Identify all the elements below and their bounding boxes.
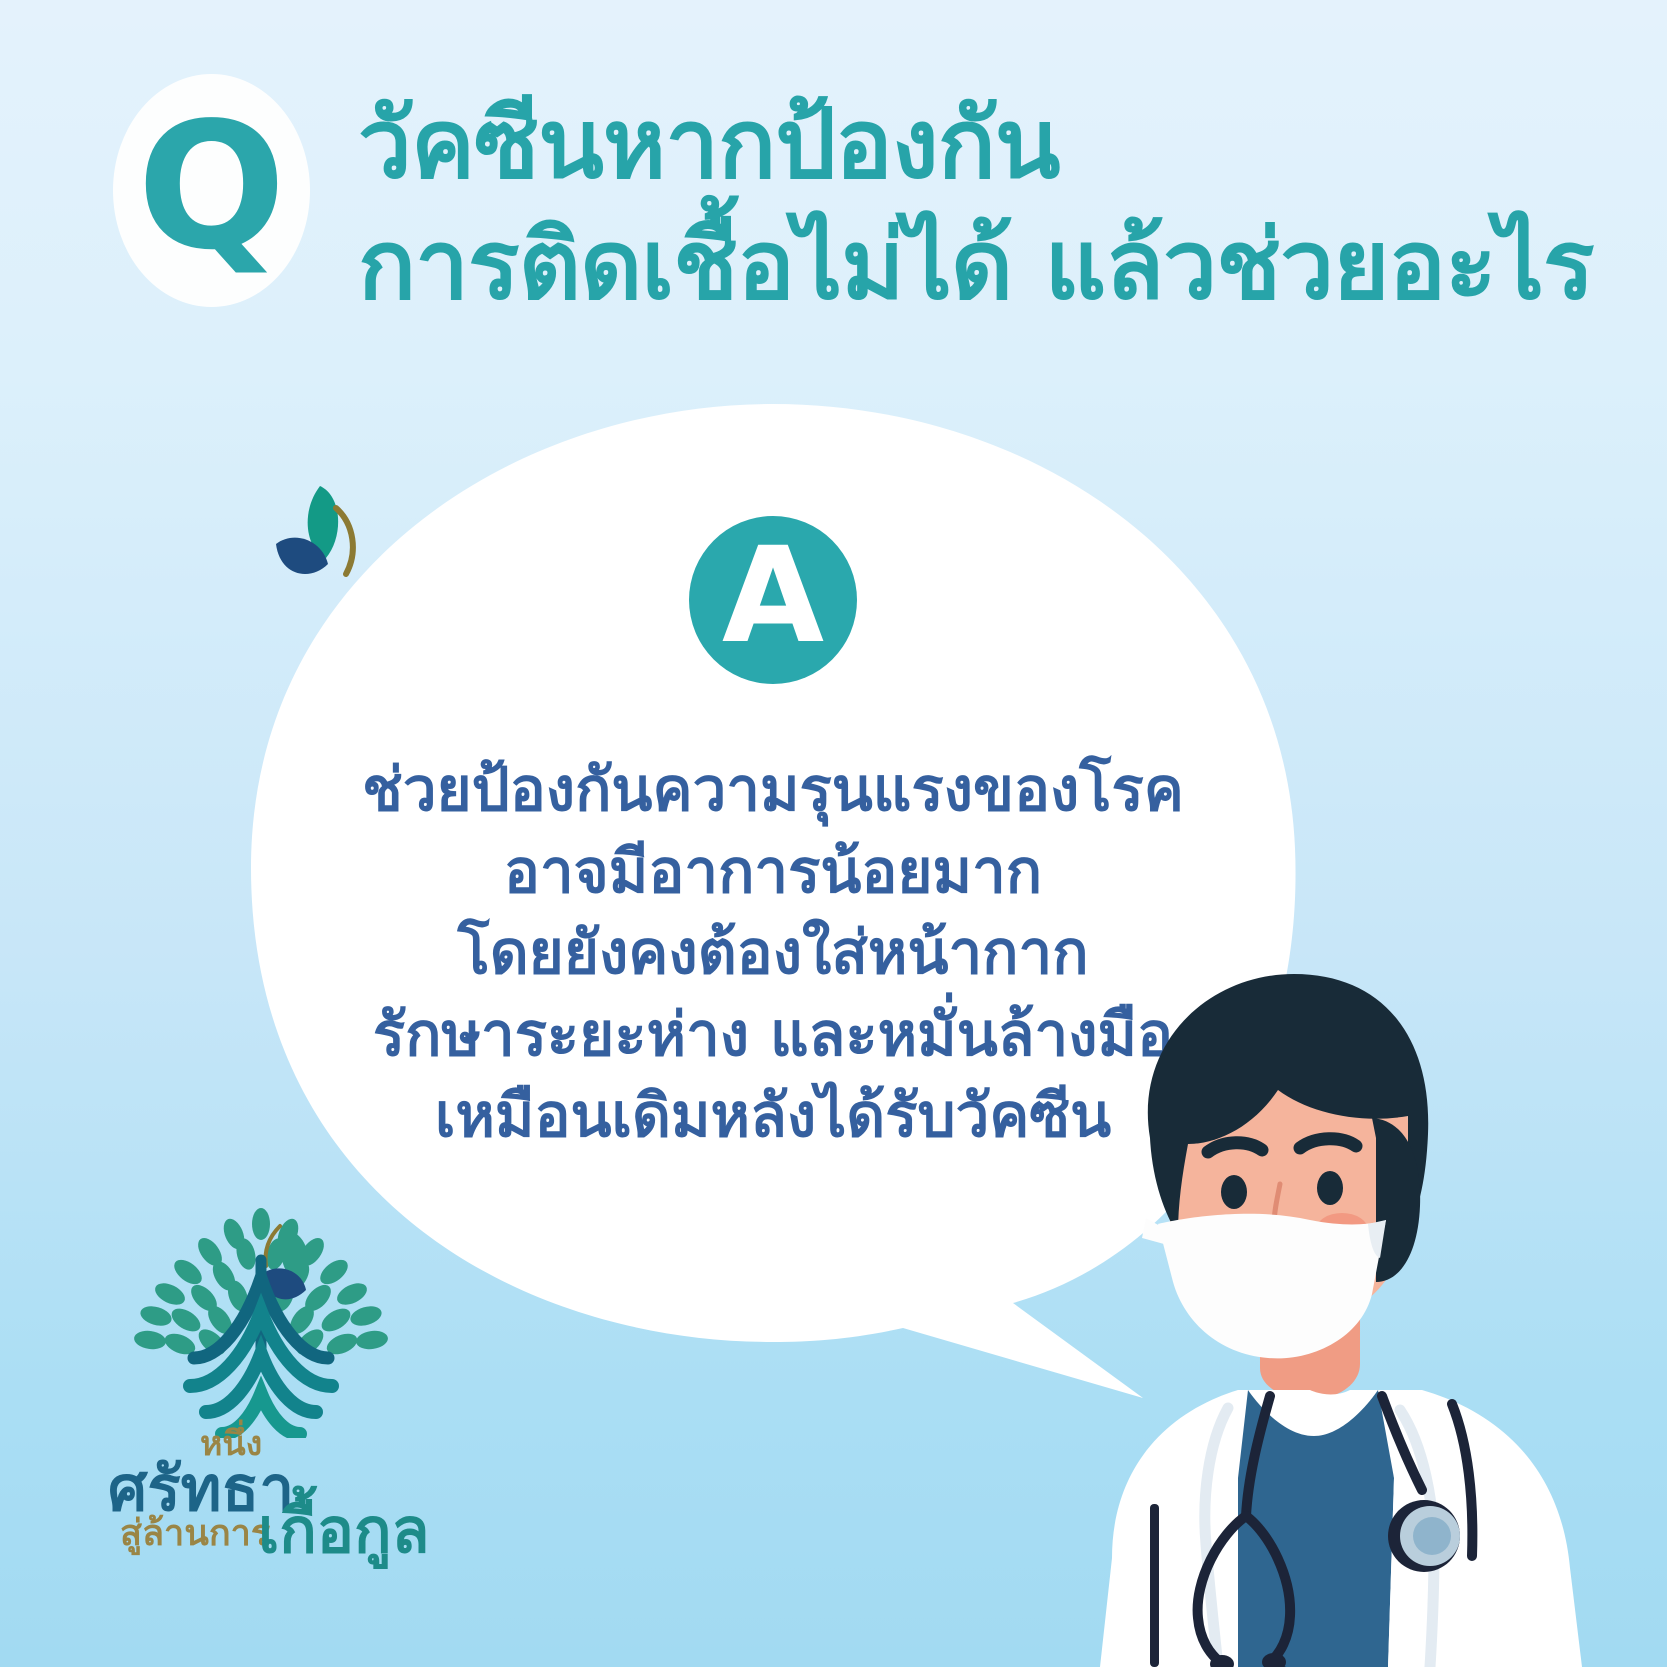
question-line-2: การติดเชื้อไม่ได้ แล้วช่วยอะไร — [358, 207, 1628, 324]
question-badge: Q — [113, 74, 310, 307]
logo-word-su-lan-kan: สู่ล้านการ — [120, 1504, 270, 1561]
question-line-1: วัคซีนหากป้องกัน — [358, 86, 1628, 203]
answer-badge: A — [689, 516, 857, 684]
page-title: วัคซีนหากป้องกัน การติดเชื้อไม่ได้ แล้วช… — [358, 86, 1628, 324]
organization-logo: หนึ่ง ศรัทธา สู่ล้านการ เกื้อกูล — [108, 1208, 448, 1568]
doctor-with-mask-illustration — [1042, 938, 1667, 1667]
answer-badge-letter: A — [722, 530, 824, 662]
answer-line-2: อาจมีอาการน้อยมาก — [243, 832, 1303, 914]
question-badge-letter: Q — [137, 100, 286, 275]
answer-line-1: ช่วยป้องกันความรุนแรงของโรค — [243, 750, 1303, 832]
logo-word-kuea-kun: เกื้อกูล — [258, 1482, 430, 1580]
logo-wordmark: หนึ่ง ศรัทธา สู่ล้านการ เกื้อกูล — [108, 1416, 448, 1566]
infographic-poster: Q วัคซีนหากป้องกัน การติดเชื้อไม่ได้ แล้… — [0, 0, 1667, 1667]
tree-with-butterfly-logo-icon — [128, 1208, 398, 1438]
